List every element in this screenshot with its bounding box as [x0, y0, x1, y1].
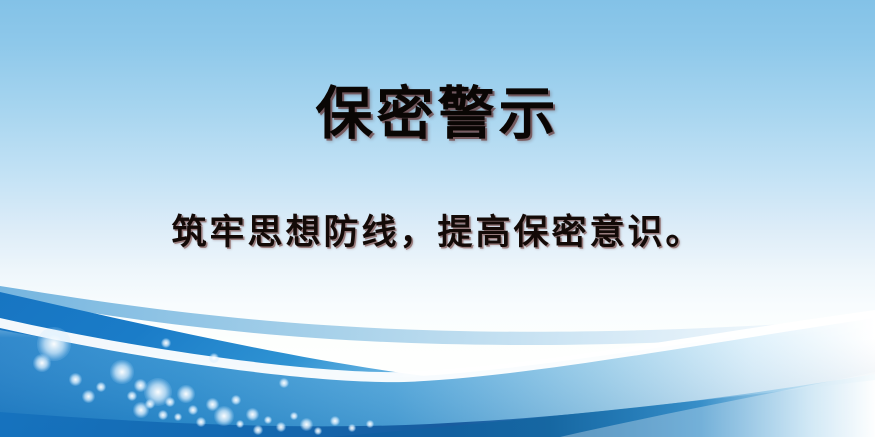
secrecy-warning-poster: 保密警示 筑牢思想防线，提高保密意识。 [0, 0, 875, 437]
page-title: 保密警示 [0, 82, 875, 146]
page-subtitle: 筑牢思想防线，提高保密意识。 [0, 211, 875, 255]
